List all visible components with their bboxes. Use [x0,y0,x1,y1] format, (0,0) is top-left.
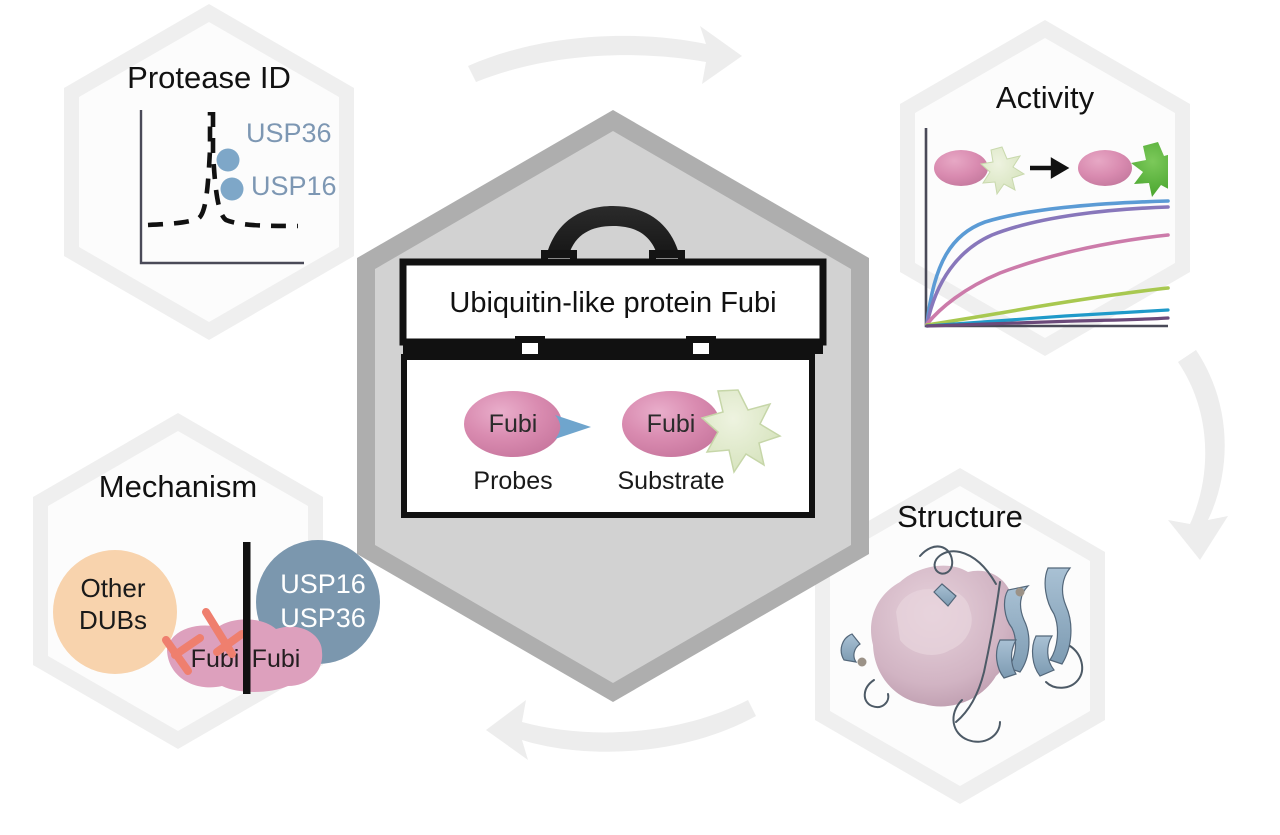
probe-fubi-label: Fubi [489,410,538,438]
other-dubs-label-line1: Other [80,573,145,603]
hit-dot-usp16 [221,178,244,201]
hit-dot-usp36 [217,149,240,172]
substrate-blob [934,150,988,186]
probe-caption: Probes [473,467,552,495]
usp-label-line1: USP16 [280,569,366,599]
hit-label-usp36: USP36 [246,118,332,148]
panel-title-mechanism: Mechanism [99,469,258,504]
cleavage-site-bar [243,542,251,694]
panel-title-structure: Structure [897,499,1023,534]
product-blob [1078,150,1132,186]
substrate-caption: Substrate [617,467,724,495]
hit-label-usp16: USP16 [251,171,337,201]
ligand-atom-2 [858,658,867,667]
toolbox-title: Ubiquitin-like protein Fubi [449,287,776,319]
ligand-atom-1 [1016,588,1025,597]
panel-title-protease-id: Protease ID [127,60,291,95]
graphical-abstract: Protease ID USP36 USP16 Activity [0,0,1280,835]
substrate-label-right: Fubi [252,645,301,673]
usp-label-line2: USP36 [280,603,366,633]
panel-title-activity: Activity [996,80,1095,115]
toolbox-hinge-bar [403,344,823,354]
other-dubs-label-line2: DUBs [79,605,147,635]
substrate-fubi-label: Fubi [647,410,696,438]
